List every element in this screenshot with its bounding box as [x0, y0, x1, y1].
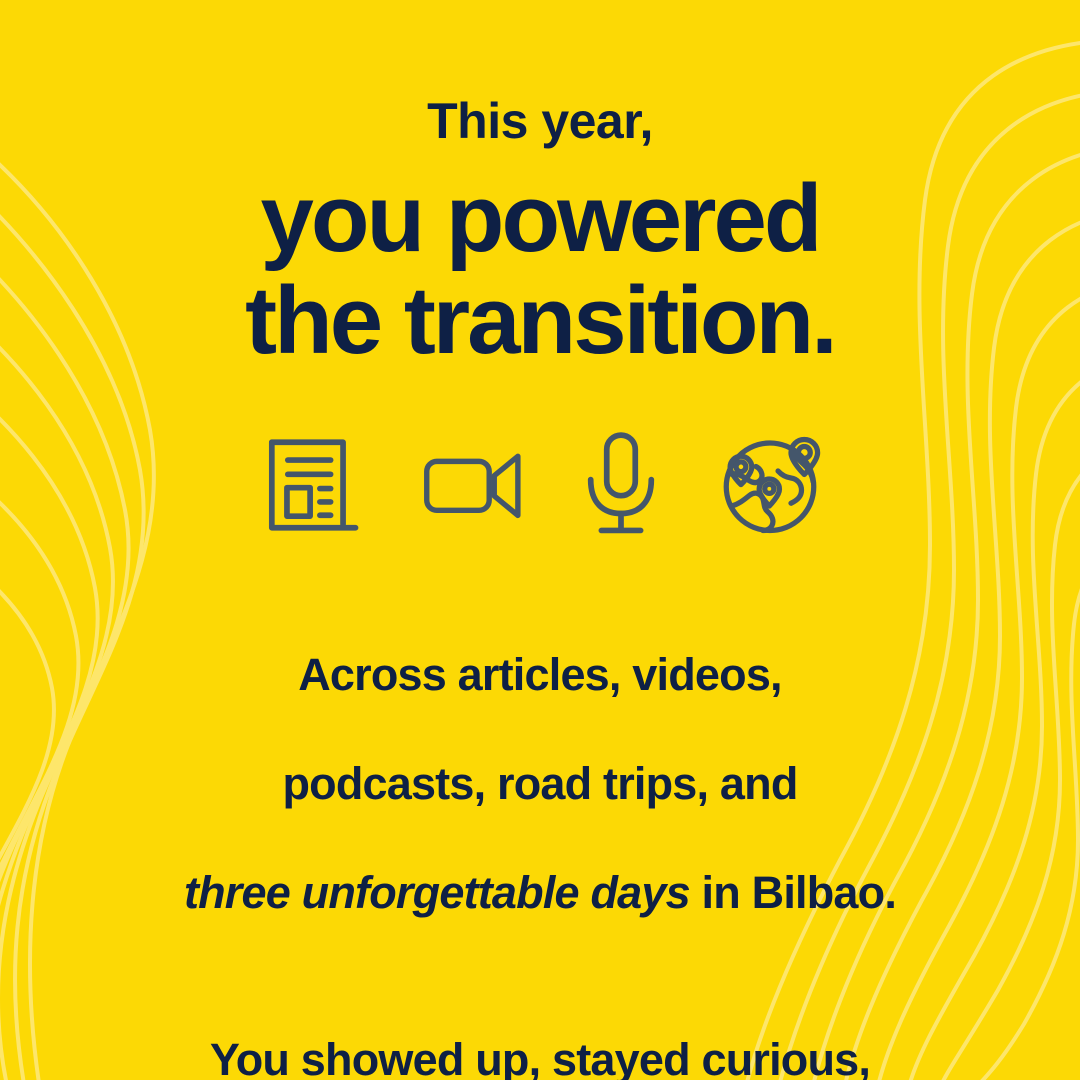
article-icon — [254, 428, 368, 542]
paragraph-one-line-3: three unforgettable days in Bilbao. — [184, 866, 896, 920]
promo-poster: This year, you powered the transition. — [0, 0, 1080, 1080]
paragraph-one: Across articles, videos, podcasts, road … — [184, 594, 896, 975]
media-icon-row — [254, 428, 826, 542]
kicker-text: This year, — [427, 96, 653, 146]
globe-pins-icon — [714, 429, 826, 541]
paragraph-two: You showed up, stayed curious, and helpe… — [184, 1033, 896, 1080]
paragraph-one-line-3-tail: in Bilbao. — [690, 867, 896, 918]
paragraph-one-line-1: Across articles, videos, — [184, 648, 896, 702]
body-copy: Across articles, videos, podcasts, road … — [184, 594, 896, 1080]
video-camera-icon — [420, 445, 528, 525]
page-title: you powered the transition. — [245, 168, 835, 372]
poster-content: This year, you powered the transition. — [0, 0, 1080, 1080]
emphasis-three-days: three unforgettable days — [184, 867, 690, 918]
paragraph-one-line-2: podcasts, road trips, and — [184, 757, 896, 811]
microphone-icon — [580, 429, 662, 541]
